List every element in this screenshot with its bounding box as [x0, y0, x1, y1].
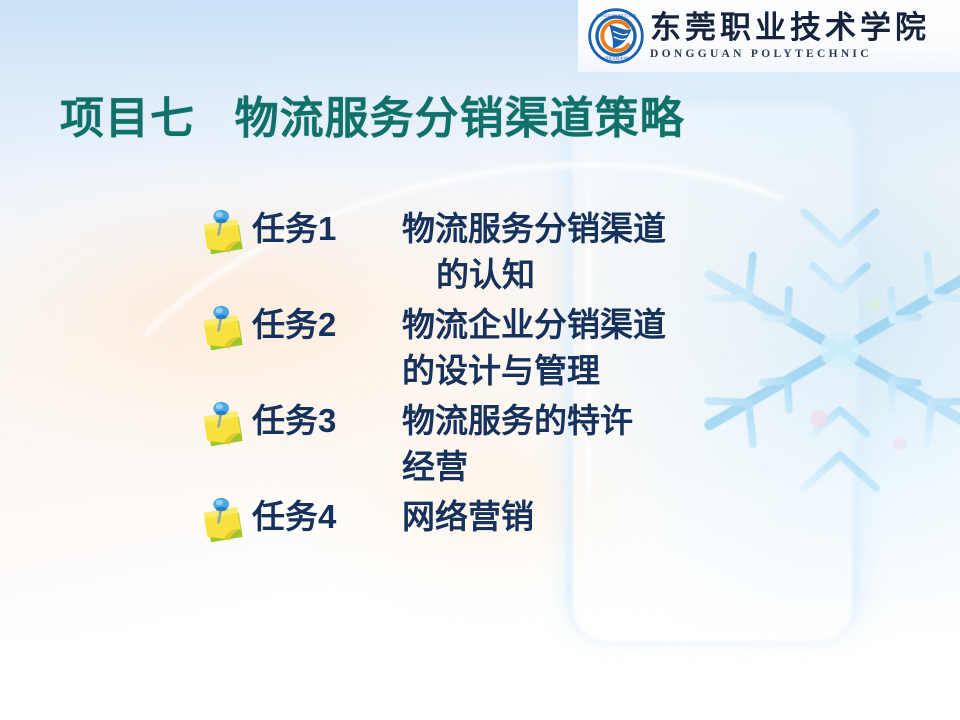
logo-wordmark: 东莞职业技术学院 DONGGUAN POLYTECHNIC	[650, 13, 930, 60]
task-text-line1: 物流服务的特许	[402, 402, 633, 439]
dongguan-polytechnic-logo-icon: DONGGUAN POLYTECH 东莞职业技术学院	[588, 8, 644, 64]
task-text: 网络营销	[402, 494, 534, 540]
sticky-note-pin-icon	[196, 400, 252, 452]
page-title: 项目七 物流服务分销渠道策略	[60, 82, 685, 146]
sticky-note-pin-icon	[196, 304, 252, 356]
task-text-line1: 物流企业分销渠道	[402, 306, 666, 343]
task-text: 物流服务的特许经营	[402, 398, 633, 490]
slide-canvas: DONGGUAN POLYTECH 东莞职业技术学院 东莞职业技术学院 DONG…	[0, 0, 960, 720]
task-text-line2: 经营	[402, 444, 633, 490]
sticky-note-pin-icon	[196, 496, 252, 548]
task-body: 任务2 物流企业分销渠道的设计与管理	[252, 302, 666, 394]
task-label: 任务4	[252, 494, 402, 540]
list-item: 任务4 网络营销	[196, 494, 896, 548]
task-text: 物流服务分销渠道的认知	[402, 206, 666, 298]
task-body: 任务4 网络营销	[252, 494, 534, 540]
svg-text:DONGGUAN POLYTECH: DONGGUAN POLYTECH	[596, 14, 637, 18]
task-list: 任务1 物流服务分销渠道的认知 任务2 物流企业分销渠道的设计	[196, 206, 896, 552]
sticky-note-pin-icon	[196, 208, 252, 260]
task-text-line1: 物流服务分销渠道	[402, 210, 666, 247]
task-text-line1: 网络营销	[402, 498, 534, 535]
school-logo-band: DONGGUAN POLYTECH 东莞职业技术学院 东莞职业技术学院 DONG…	[578, 0, 960, 72]
list-item: 任务1 物流服务分销渠道的认知	[196, 206, 896, 298]
logo-chinese-name: 东莞职业技术学院	[650, 13, 930, 44]
task-body: 任务3 物流服务的特许经营	[252, 398, 633, 490]
task-label: 任务1	[252, 206, 402, 252]
svg-text:东莞职业技术学院: 东莞职业技术学院	[602, 56, 631, 61]
task-body: 任务1 物流服务分销渠道的认知	[252, 206, 666, 298]
list-item: 任务2 物流企业分销渠道的设计与管理	[196, 302, 896, 394]
task-label: 任务3	[252, 398, 402, 444]
list-item: 任务3 物流服务的特许经营	[196, 398, 896, 490]
task-text: 物流企业分销渠道的设计与管理	[402, 302, 666, 394]
background-bottom-fade	[0, 590, 960, 720]
logo-english-name: DONGGUAN POLYTECHNIC	[650, 48, 930, 60]
task-text-line2: 的认知	[402, 252, 666, 298]
task-text-line2: 的设计与管理	[402, 348, 666, 394]
task-label: 任务2	[252, 302, 402, 348]
